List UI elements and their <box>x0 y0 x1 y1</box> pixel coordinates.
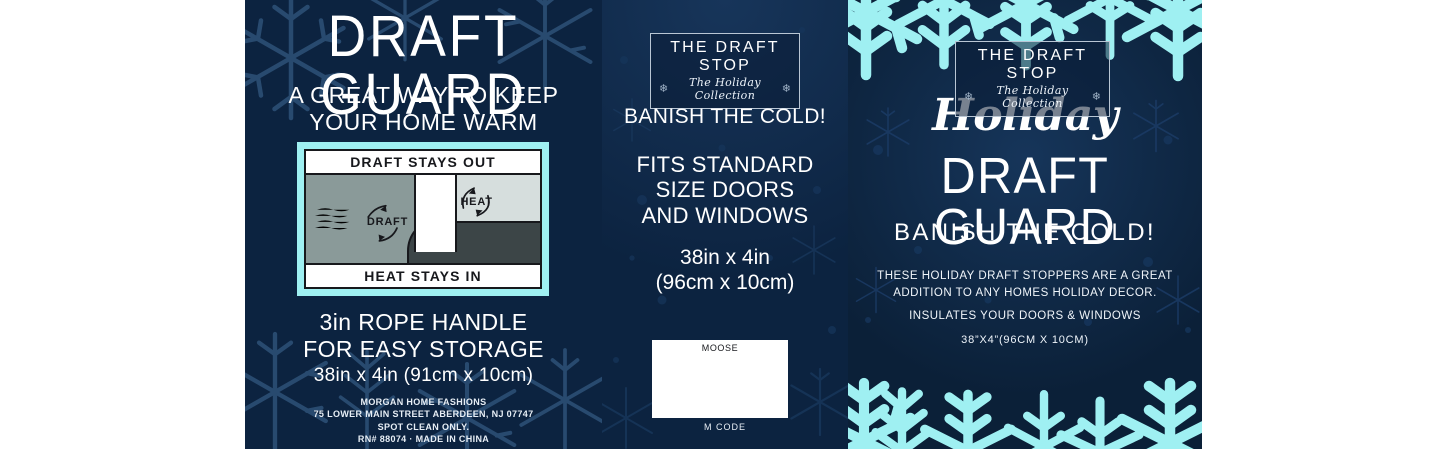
side-fits-line-2: SIZE DOORS <box>656 177 795 202</box>
fine-print-rn: RN# 88074 · MADE IN CHINA <box>358 434 489 444</box>
front-rope-line-2: FOR EASY STORAGE <box>303 336 544 362</box>
left-gutter <box>0 0 245 449</box>
back-brand-logo: THE DRAFT STOP ❄ The Holiday Collection … <box>955 41 1110 117</box>
fine-print-company: MORGAN HOME FASHIONS <box>360 397 486 407</box>
front-rope-line-1: 3in ROPE HANDLE <box>320 309 528 335</box>
fine-print-care: SPOT CLEAN ONLY. <box>378 422 470 432</box>
diagram-top-band-label: DRAFT STAYS OUT <box>306 151 540 175</box>
diagram-body: DRAFT HEAT <box>306 173 540 265</box>
how-it-works-diagram: DRAFT STAYS OUT <box>295 140 551 298</box>
side-fits-line-3: AND WINDOWS <box>641 203 808 228</box>
back-logo-script: The Holiday Collection <box>980 84 1085 110</box>
back-body-line-3: INSULATES YOUR DOORS & WINDOWS <box>909 310 1141 322</box>
back-body-copy: THESE HOLIDAY DRAFT STOPPERS ARE A GREAT… <box>848 268 1202 325</box>
back-logo-subrow: ❄ The Holiday Collection ❄ <box>964 84 1101 110</box>
product-package-artwork: DRAFT GUARD A GREAT WAY TO KEEP YOUR HOM… <box>0 0 1445 449</box>
side-card-label: MOOSE <box>652 343 788 353</box>
diagram-door-panel <box>414 173 458 252</box>
diagram-bottom-band-label: HEAT STAYS IN <box>306 263 540 287</box>
side-logo-name: THE DRAFT STOP <box>659 39 791 74</box>
front-rope-handle-text: 3in ROPE HANDLE FOR EASY STORAGE <box>245 309 602 363</box>
front-fine-print: MORGAN HOME FASHIONS 75 LOWER MAIN STREE… <box>245 396 602 446</box>
side-fits-text: FITS STANDARD SIZE DOORS AND WINDOWS <box>602 152 848 228</box>
back-body-line-2: ADDITION TO ANY HOMES HOLIDAY DECOR. <box>893 287 1157 299</box>
front-subtitle-line-1: A GREAT WAY TO KEEP <box>288 82 558 108</box>
back-bottom-snowflake-border <box>848 355 1202 449</box>
back-logo-name: THE DRAFT STOP <box>964 47 1101 82</box>
right-gutter <box>1202 0 1445 449</box>
back-dimensions-text: 38”X4”(96CM X 10CM) <box>848 334 1202 346</box>
front-size-text: 38in x 4in (91cm x 10cm) <box>245 365 602 387</box>
snowflake-icon: ❄ <box>964 92 973 103</box>
side-logo-subrow: ❄ The Holiday Collection ❄ <box>659 76 791 102</box>
side-logo-script: The Holiday Collection <box>675 76 775 102</box>
diagram-heat-label: HEAT <box>460 196 492 208</box>
front-subtitle-line-2: YOUR HOME WARM <box>309 109 538 135</box>
side-dims-line-2: (96cm x 10cm) <box>656 271 795 294</box>
snowflake-icon: ❄ <box>659 84 668 95</box>
snowflake-icon: ❄ <box>1092 92 1101 103</box>
side-dimensions-text: 38in x 4in (96cm x 10cm) <box>602 245 848 295</box>
side-fits-line-1: FITS STANDARD <box>636 152 813 177</box>
side-banish-headline: BANISH THE COLD! <box>602 105 848 129</box>
diagram-draft-label: DRAFT <box>367 216 408 228</box>
side-dims-line-1: 38in x 4in <box>680 246 770 269</box>
diagram-frame: DRAFT STAYS OUT <box>304 149 542 289</box>
body-spacer <box>848 303 1202 308</box>
side-product-card: MOOSE <box>652 340 788 418</box>
back-banish-headline: BANISH THE COLD! <box>848 219 1202 247</box>
fine-print-address: 75 LOWER MAIN STREET ABERDEEN, NJ 07747 <box>314 409 534 419</box>
panel-front-face: DRAFT GUARD A GREAT WAY TO KEEP YOUR HOM… <box>245 0 602 449</box>
side-card-caption: M CODE <box>602 422 848 432</box>
side-brand-logo: THE DRAFT STOP ❄ The Holiday Collection … <box>650 33 800 109</box>
back-body-line-1: THESE HOLIDAY DRAFT STOPPERS ARE A GREAT <box>877 270 1173 282</box>
snowflake-icon: ❄ <box>782 84 791 95</box>
front-subtitle: A GREAT WAY TO KEEP YOUR HOME WARM <box>245 82 602 135</box>
